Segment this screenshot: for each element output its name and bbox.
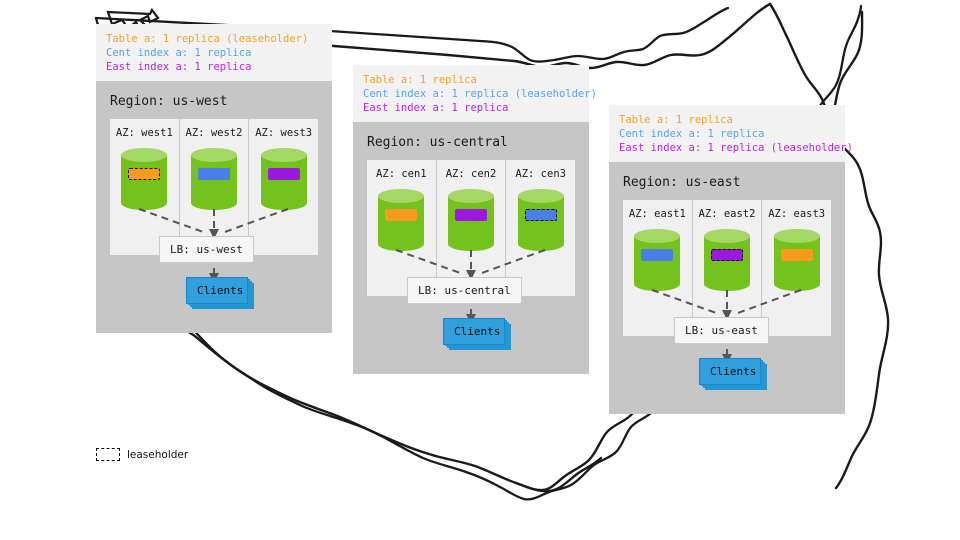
- az-label-east3: AZ: east3: [762, 208, 831, 220]
- clients-stack-us-west[interactable]: Clients: [186, 277, 256, 309]
- cylinder-bottom: [774, 277, 820, 291]
- replica-band-cent-index: [198, 168, 230, 180]
- node-cylinder-cen3[interactable]: [518, 189, 564, 251]
- replica-band-table-leaseholder: [128, 168, 160, 180]
- node-cylinder-west1[interactable]: [121, 148, 167, 210]
- az-cell-west3[interactable]: AZ: west3: [248, 119, 318, 255]
- annotation-cent-index-replica: Cent index a: 1 replica (leaseholder): [363, 87, 579, 101]
- replica-band-cent-index-leaseholder: [525, 209, 557, 221]
- node-cylinder-cen2[interactable]: [448, 189, 494, 251]
- az-label-west2: AZ: west2: [180, 127, 249, 139]
- az-cell-west2[interactable]: AZ: west2: [179, 119, 249, 255]
- legend-label: leaseholder: [127, 449, 188, 461]
- region-title-us-central: Region: us-central: [353, 122, 589, 160]
- replica-band-table: [781, 249, 813, 261]
- annotation-table-replica: Table a: 1 replica: [619, 113, 835, 127]
- cylinder-top: [634, 229, 680, 243]
- az-cell-east1[interactable]: AZ: east1: [623, 200, 692, 336]
- cylinder-top: [704, 229, 750, 243]
- replica-annotations-us-east: Table a: 1 replica Cent index a: 1 repli…: [609, 105, 845, 162]
- az-label-west3: AZ: west3: [249, 127, 318, 139]
- cylinder-bottom: [518, 237, 564, 251]
- az-label-cen3: AZ: cen3: [506, 168, 575, 180]
- cylinder-top: [774, 229, 820, 243]
- annotation-table-replica: Table a: 1 replica (leaseholder): [106, 32, 322, 46]
- diagram-canvas: Table a: 1 replica (leaseholder) Cent in…: [0, 0, 960, 540]
- region-panel-us-east: Table a: 1 replica Cent index a: 1 repli…: [609, 105, 845, 414]
- node-cylinder-east2[interactable]: [704, 229, 750, 291]
- cylinder-bottom: [448, 237, 494, 251]
- region-panel-us-west: Table a: 1 replica (leaseholder) Cent in…: [96, 24, 332, 333]
- region-panel-us-central: Table a: 1 replica Cent index a: 1 repli…: [353, 65, 589, 374]
- replica-band-table: [385, 209, 417, 221]
- load-balancer-us-west[interactable]: LB: us-west: [159, 236, 254, 263]
- az-label-west1: AZ: west1: [110, 127, 179, 139]
- node-cylinder-west3[interactable]: [261, 148, 307, 210]
- replica-annotations-us-west: Table a: 1 replica (leaseholder) Cent in…: [96, 24, 332, 81]
- az-cell-cen2[interactable]: AZ: cen2: [436, 160, 506, 296]
- az-row-us-west: AZ: west1 AZ: west2: [110, 119, 318, 255]
- az-cell-cen3[interactable]: AZ: cen3: [505, 160, 575, 296]
- annotation-cent-index-replica: Cent index a: 1 replica: [106, 46, 322, 60]
- region-title-us-east: Region: us-east: [609, 162, 845, 200]
- az-cell-east2[interactable]: AZ: east2: [692, 200, 762, 336]
- az-cell-west1[interactable]: AZ: west1: [110, 119, 179, 255]
- load-balancer-us-east[interactable]: LB: us-east: [674, 317, 769, 344]
- region-title-us-west: Region: us-west: [96, 81, 332, 119]
- replica-band-cent-index: [641, 249, 673, 261]
- cylinder-bottom: [191, 196, 237, 210]
- node-cylinder-cen1[interactable]: [378, 189, 424, 251]
- az-cell-east3[interactable]: AZ: east3: [761, 200, 831, 336]
- load-balancer-us-central[interactable]: LB: us-central: [407, 277, 522, 304]
- az-cell-cen1[interactable]: AZ: cen1: [367, 160, 436, 296]
- cylinder-top: [518, 189, 564, 203]
- cylinder-bottom: [261, 196, 307, 210]
- node-cylinder-west2[interactable]: [191, 148, 237, 210]
- annotation-east-index-replica: East index a: 1 replica: [106, 60, 322, 74]
- az-label-cen2: AZ: cen2: [437, 168, 506, 180]
- clients-label[interactable]: Clients: [443, 318, 505, 345]
- replica-band-east-index: [455, 209, 487, 221]
- cylinder-top: [448, 189, 494, 203]
- az-label-east1: AZ: east1: [623, 208, 692, 220]
- node-cylinder-east3[interactable]: [774, 229, 820, 291]
- annotation-cent-index-replica: Cent index a: 1 replica: [619, 127, 835, 141]
- cylinder-bottom: [378, 237, 424, 251]
- replica-band-east-index: [268, 168, 300, 180]
- annotation-east-index-replica: East index a: 1 replica (leaseholder): [619, 141, 835, 155]
- cylinder-bottom: [634, 277, 680, 291]
- cylinder-bottom: [704, 277, 750, 291]
- clients-stack-us-central[interactable]: Clients: [443, 318, 513, 350]
- replica-band-east-index-leaseholder: [711, 249, 743, 261]
- node-cylinder-east1[interactable]: [634, 229, 680, 291]
- replica-annotations-us-central: Table a: 1 replica Cent index a: 1 repli…: [353, 65, 589, 122]
- clients-label[interactable]: Clients: [186, 277, 248, 304]
- annotation-east-index-replica: East index a: 1 replica: [363, 101, 579, 115]
- cylinder-bottom: [121, 196, 167, 210]
- cylinder-top: [121, 148, 167, 162]
- clients-stack-us-east[interactable]: Clients: [699, 358, 769, 390]
- cylinder-top: [191, 148, 237, 162]
- clients-label[interactable]: Clients: [699, 358, 761, 385]
- cylinder-top: [378, 189, 424, 203]
- annotation-table-replica: Table a: 1 replica: [363, 73, 579, 87]
- az-label-east2: AZ: east2: [693, 208, 762, 220]
- cylinder-top: [261, 148, 307, 162]
- az-row-us-east: AZ: east1 AZ: east2: [623, 200, 831, 336]
- az-row-us-central: AZ: cen1 AZ: cen2: [367, 160, 575, 296]
- az-label-cen1: AZ: cen1: [367, 168, 436, 180]
- legend: leaseholder: [96, 448, 188, 461]
- dashed-rect-icon: [96, 448, 120, 461]
